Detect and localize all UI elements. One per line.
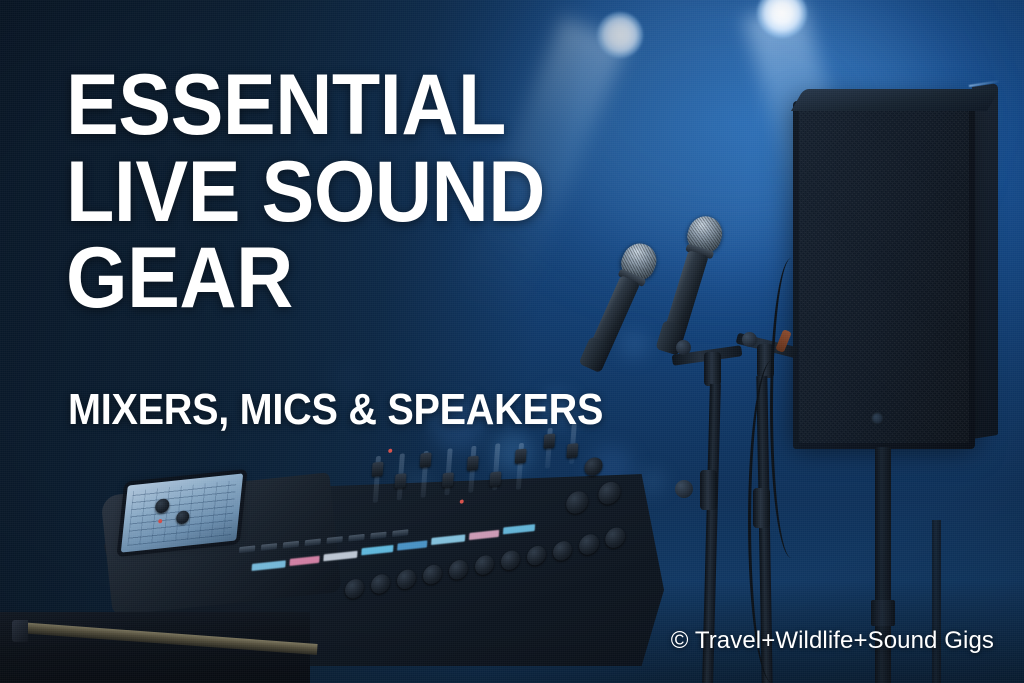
page-title: ESSENTIAL LIVE SOUND GEAR — [66, 64, 545, 324]
credit-watermark: © Travel+Wildlife+Sound Gigs — [671, 627, 994, 655]
banner-image: ESSENTIAL LIVE SOUND GEAR MIXERS, MICS &… — [0, 0, 1024, 683]
headline-line-2: LIVE SOUND — [66, 151, 545, 234]
headline-line-3: GEAR — [66, 237, 545, 320]
subtitle: MIXERS, MICS & SPEAKERS — [68, 385, 603, 435]
headline-line-1: ESSENTIAL — [66, 64, 545, 147]
